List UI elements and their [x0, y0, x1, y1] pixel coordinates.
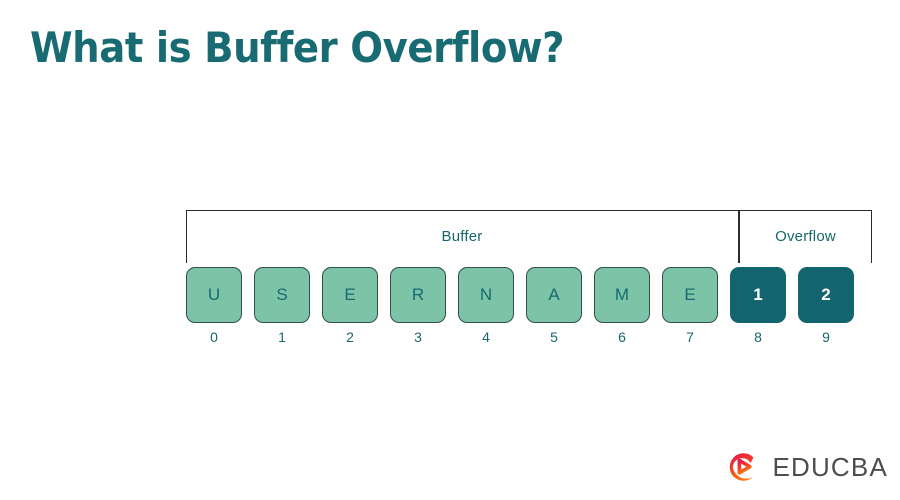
buffer-overflow-diagram: Buffer Overflow U 0 S 1 E 2 R 3 N 4 A 5 … — [186, 210, 872, 350]
memory-cell-value-1: S — [254, 267, 310, 323]
memory-cell-3: R 3 — [390, 267, 446, 345]
memory-cell-value-3: R — [390, 267, 446, 323]
memory-cell-2: E 2 — [322, 267, 378, 345]
memory-cell-1: S 1 — [254, 267, 310, 345]
region-label-overflow: Overflow — [739, 210, 872, 263]
memory-cell-index-6: 6 — [618, 329, 626, 345]
memory-cell-index-2: 2 — [346, 329, 354, 345]
memory-cell-index-0: 0 — [210, 329, 218, 345]
memory-cell-index-8: 8 — [754, 329, 762, 345]
educba-e-play-icon — [721, 446, 763, 488]
memory-cell-index-4: 4 — [482, 329, 490, 345]
memory-cell-value-6: M — [594, 267, 650, 323]
memory-cell-index-7: 7 — [686, 329, 694, 345]
memory-cell-index-5: 5 — [550, 329, 558, 345]
memory-cell-6: M 6 — [594, 267, 650, 345]
memory-cell-value-5: A — [526, 267, 582, 323]
memory-cell-value-8: 1 — [730, 267, 786, 323]
memory-cell-value-4: N — [458, 267, 514, 323]
memory-cell-value-7: E — [662, 267, 718, 323]
memory-cell-7: E 7 — [662, 267, 718, 345]
memory-cell-8: 1 8 — [730, 267, 786, 345]
memory-cell-0: U 0 — [186, 267, 242, 345]
memory-cell-index-1: 1 — [278, 329, 286, 345]
memory-cell-9: 2 9 — [798, 267, 854, 345]
memory-cell-5: A 5 — [526, 267, 582, 345]
memory-cell-index-3: 3 — [414, 329, 422, 345]
brand-logo-text: EDUCBA — [772, 452, 888, 483]
brand-logo: EDUCBA — [721, 446, 888, 488]
page-title: What is Buffer Overflow? — [30, 25, 564, 71]
memory-cell-value-9: 2 — [798, 267, 854, 323]
memory-cell-index-9: 9 — [822, 329, 830, 345]
region-label-buffer: Buffer — [186, 210, 738, 263]
memory-cells-row: U 0 S 1 E 2 R 3 N 4 A 5 M 6 E 7 — [186, 267, 872, 345]
memory-cell-value-2: E — [322, 267, 378, 323]
memory-cell-value-0: U — [186, 267, 242, 323]
memory-cell-4: N 4 — [458, 267, 514, 345]
